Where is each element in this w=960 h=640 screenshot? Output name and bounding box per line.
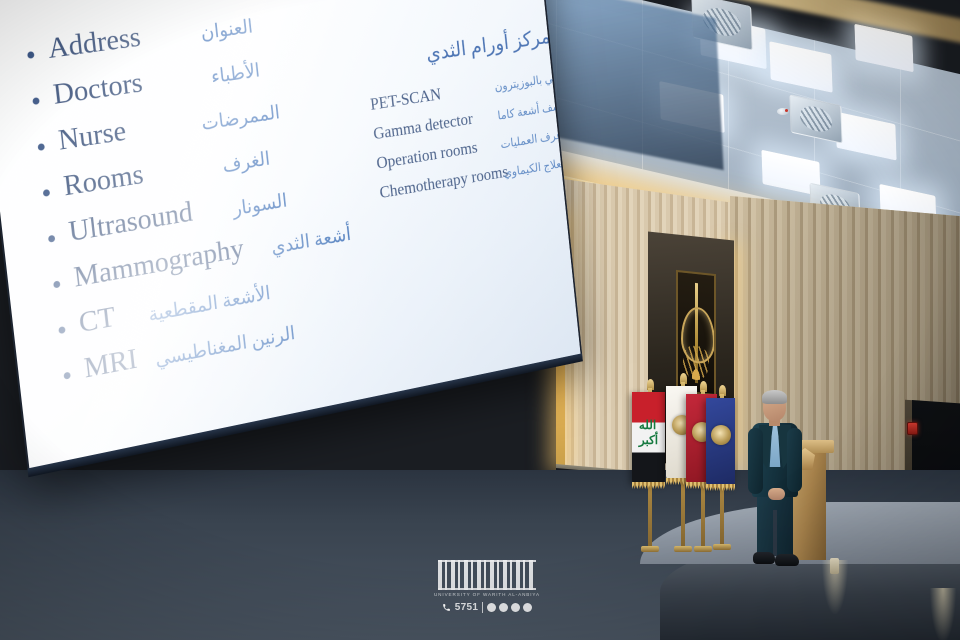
flag-blue [706, 394, 736, 546]
bullet-label-ar: العنوان [200, 14, 254, 45]
bullet-label-ar: السونار [232, 189, 289, 222]
speaker-hands [768, 488, 785, 500]
bullet-dot-icon [58, 326, 65, 334]
watermark-social-icons [487, 603, 532, 612]
bullet-dot-icon [38, 143, 45, 151]
watermark-divider [482, 602, 483, 613]
bullet-label-ar: أشعة الثدي [270, 222, 352, 259]
flag-base [694, 546, 712, 552]
flag-script-icon: الله أكبر [639, 418, 658, 448]
slide-left-column: Address العنوان Doctors الأطباء Nurse ال… [25, 0, 371, 402]
bullet-dot-icon [48, 235, 55, 243]
bullet-dot-icon [53, 280, 60, 288]
flag-cloth-iraq: الله أكبر [632, 392, 665, 484]
university-logo-icon [438, 560, 536, 590]
facebook-icon [487, 603, 496, 612]
bullet-label-ar: الأطباء [210, 58, 261, 89]
watermark-contact: 5751 [432, 602, 542, 613]
flag-base [641, 546, 659, 552]
watermark-organization: UNIVERSITY OF WARITH AL-ANBIYA [432, 592, 542, 597]
phone-icon [442, 603, 451, 612]
slide-right-column: PET-SCAN التصوير المقطعي بالبوزيترون Gam… [369, 63, 580, 212]
presentation-slide: Breast Cancer Centre مركز أورام الثدي Ad… [7, 0, 564, 423]
arabesque-filigree-icon [683, 345, 709, 382]
speaker-leg-gap [773, 510, 777, 556]
speaker-arm [787, 428, 802, 492]
speaker-shoe [775, 554, 799, 566]
right-label-ar: غرف العمليات [500, 128, 562, 152]
bullet-label-en: CT [77, 301, 117, 340]
auditorium-photo: الله أكبر [0, 0, 960, 640]
flag-iraq: الله أكبر [632, 388, 666, 548]
watermark: UNIVERSITY OF WARITH AL-ANBIYA 5751 [432, 560, 542, 613]
speaker-shoe [753, 552, 775, 564]
instagram-icon [499, 603, 508, 612]
flag-base [713, 544, 731, 550]
bullet-dot-icon [63, 372, 70, 380]
watermark-phone: 5751 [455, 602, 478, 613]
bullet-dot-icon [32, 97, 39, 105]
right-label-en: PET-SCAN [369, 85, 442, 115]
speaker-arm [748, 428, 763, 494]
speaker-hair [762, 390, 787, 404]
bullet-label-ar: الغرف [221, 147, 271, 178]
bullet-label-en: Address [46, 20, 142, 65]
stage-uplight-icon [830, 558, 839, 574]
slide-title-ar: مركز أورام الثدي [425, 25, 551, 66]
smoke-detector-icon [777, 108, 789, 115]
speaker-person [742, 392, 808, 570]
flag-cloth-blue [706, 398, 735, 486]
stage-uplight-glow [930, 588, 956, 640]
bullet-dot-icon [43, 189, 50, 197]
bullet-dot-icon [27, 51, 34, 59]
youtube-icon [523, 603, 532, 612]
flag-crest-icon [711, 425, 731, 445]
bullet-label-ar: الممرضات [200, 100, 281, 135]
twitter-icon [511, 603, 520, 612]
fire-alarm-icon [907, 422, 918, 435]
